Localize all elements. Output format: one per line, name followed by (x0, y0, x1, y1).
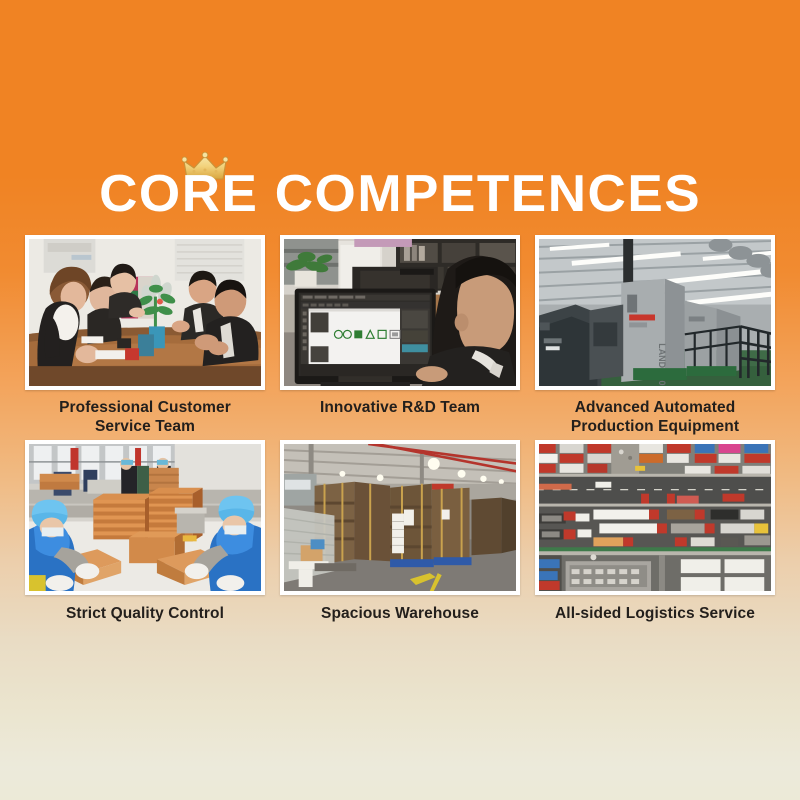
card-all-sided-logistics-service[interactable]: All-sided Logistics Service (535, 440, 775, 623)
photo-frame (535, 440, 775, 595)
caption-line-1: Professional Customer (59, 399, 231, 416)
card-strict-quality-control[interactable]: Strict Quality Control (25, 440, 265, 623)
page-title: CORE COMPETENCES (99, 164, 701, 224)
card-caption: Professional Customer Service Team (25, 398, 265, 436)
core-competences-poster: CORE COMPETENCES (0, 0, 800, 800)
card-spacious-warehouse[interactable]: Spacious Warehouse (280, 440, 520, 623)
photo-frame (25, 440, 265, 595)
printing-press-photo: LAND 800 (539, 239, 771, 386)
card-caption: All-sided Logistics Service (535, 604, 775, 623)
card-caption: Advanced Automated Production Equipment (535, 398, 775, 436)
caption-line-2: Service Team (25, 417, 265, 436)
photo-frame (280, 440, 520, 595)
title-block: CORE COMPETENCES (0, 150, 800, 224)
card-professional-customer-service-team[interactable]: Professional Customer Service Team (25, 235, 265, 436)
card-caption: Strict Quality Control (25, 604, 265, 623)
card-caption: Spacious Warehouse (280, 604, 520, 623)
quality-inspection-photo (29, 444, 261, 591)
logistics-port-aerial-photo (539, 444, 771, 591)
caption-line-1: Strict Quality Control (66, 605, 224, 622)
designer-at-computer-photo (284, 239, 516, 386)
warehouse-photo (284, 444, 516, 591)
caption-line-2: Production Equipment (535, 417, 775, 436)
photo-frame: LAND 800 (535, 235, 775, 390)
photo-frame (280, 235, 520, 390)
meeting-room-photo (29, 239, 261, 386)
card-innovative-rd-team[interactable]: Innovative R&D Team (280, 235, 520, 436)
caption-line-1: Spacious Warehouse (321, 605, 479, 622)
caption-line-1: All-sided Logistics Service (555, 605, 755, 622)
card-caption: Innovative R&D Team (280, 398, 520, 417)
photo-frame (25, 235, 265, 390)
competences-grid: Professional Customer Service Team (25, 235, 775, 623)
caption-line-1: Innovative R&D Team (320, 399, 480, 416)
caption-line-1: Advanced Automated (575, 399, 736, 416)
card-advanced-automated-production-equipment[interactable]: LAND 800 (535, 235, 775, 436)
